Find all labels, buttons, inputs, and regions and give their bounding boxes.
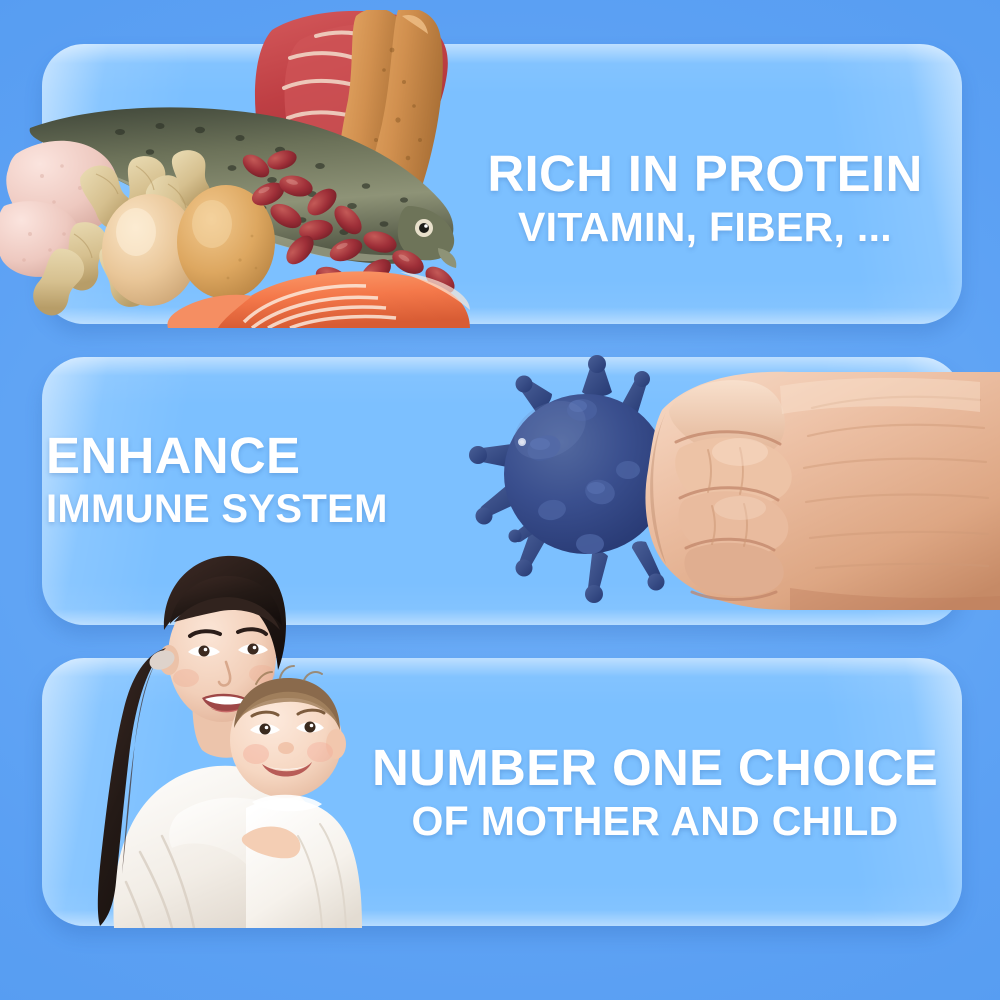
benefit-text-mother-child: NUMBER ONE CHOICE OF MOTHER AND CHILD [370, 742, 940, 842]
subline-mother-child: OF MOTHER AND CHILD [370, 801, 940, 842]
headline-immune: ENHANCE [46, 430, 446, 481]
benefit-text-protein: RICH IN PROTEIN VITAMIN, FIBER, ... [470, 148, 940, 248]
headline-mother-child: NUMBER ONE CHOICE [370, 742, 940, 793]
headline-protein: RICH IN PROTEIN [470, 148, 940, 199]
subline-immune: IMMUNE SYSTEM [46, 489, 446, 529]
promo-poster: RICH IN PROTEIN VITAMIN, FIBER, ... ENHA… [0, 0, 1000, 1000]
benefit-text-immune: ENHANCE IMMUNE SYSTEM [46, 430, 446, 529]
subline-protein: VITAMIN, FIBER, ... [470, 207, 940, 248]
